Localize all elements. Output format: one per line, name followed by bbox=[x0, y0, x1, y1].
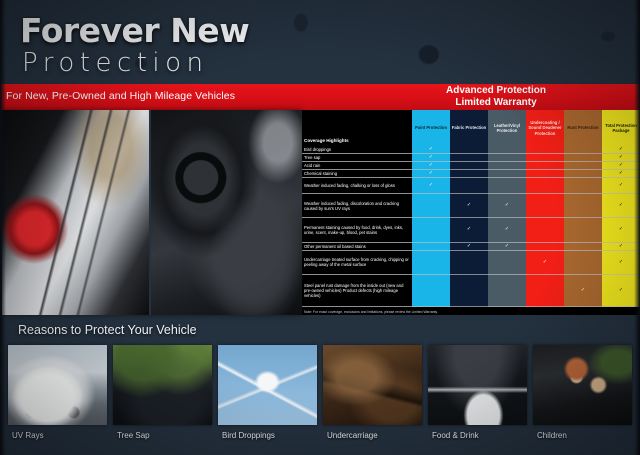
row-label: Acid rain bbox=[302, 162, 412, 170]
table-cell bbox=[564, 178, 602, 194]
table-row: Bird droppings✓✓ bbox=[302, 146, 640, 154]
left-edge-shadow bbox=[0, 0, 6, 455]
table-cell bbox=[526, 194, 564, 218]
reasons-banner: Reasons to Protect Your Vehicle bbox=[0, 318, 640, 342]
reasons-heading: Reasons to Protect Your Vehicle bbox=[18, 323, 197, 337]
table-cell bbox=[412, 194, 450, 218]
table-cell bbox=[450, 146, 488, 154]
table-cell bbox=[450, 178, 488, 194]
table-cell: ✓ bbox=[488, 243, 526, 251]
checkmark-icon: ✓ bbox=[619, 155, 623, 160]
checkmark-icon: ✓ bbox=[619, 203, 623, 208]
row-label: Steel panel rust damage from the inside … bbox=[302, 275, 412, 307]
checkmark-icon: ✓ bbox=[505, 244, 509, 249]
photo-caption-woman-and-child-in-convertible: Children bbox=[537, 431, 567, 440]
checkmark-icon: ✓ bbox=[619, 244, 623, 249]
column-header-label: Rust Protection bbox=[567, 125, 598, 130]
table-cell bbox=[488, 154, 526, 162]
table-cell bbox=[526, 146, 564, 154]
checkmark-icon: ✓ bbox=[429, 171, 433, 176]
table-row: Tree sap✓✓ bbox=[302, 154, 640, 162]
column-header-4: Rust Protection bbox=[564, 110, 602, 146]
table-row: Weather induced fading, discoloration an… bbox=[302, 194, 640, 218]
table-cell bbox=[564, 154, 602, 162]
column-header-0: Paint Protection bbox=[412, 110, 450, 146]
table-row: Acid rain✓✓ bbox=[302, 162, 640, 170]
photo-uv-rays bbox=[8, 345, 107, 425]
table-cell: ✓ bbox=[488, 194, 526, 218]
table-cell bbox=[488, 162, 526, 170]
column-header-3: Undercoating / Sound Deadener Protection bbox=[526, 110, 564, 146]
table-row: Weather induced fading, chalking or loss… bbox=[302, 178, 640, 194]
table-cell: ✓ bbox=[526, 251, 564, 275]
photo-bird-droppings bbox=[218, 345, 317, 425]
table-cell bbox=[526, 170, 564, 178]
coverage-comparison-table: Coverage Highlights Paint ProtectionFabr… bbox=[302, 110, 640, 315]
row-label: Weather induced fading, discoloration an… bbox=[302, 194, 412, 218]
masthead: Forever New Protection bbox=[0, 0, 640, 86]
photo-caption-dark-suv-under-tree: Tree Sap bbox=[117, 431, 150, 440]
table-cell bbox=[450, 251, 488, 275]
table-cell: ✓ bbox=[412, 146, 450, 154]
table-cell: ✓ bbox=[564, 275, 602, 307]
table-corner-header: Coverage Highlights bbox=[302, 110, 412, 146]
coverage-highlights-label: Coverage Highlights bbox=[304, 138, 349, 143]
table-row: Steel panel rust damage from the inside … bbox=[302, 275, 640, 307]
table-header-row: Coverage Highlights Paint ProtectionFabr… bbox=[302, 110, 640, 146]
column-header-1: Fabric Protection bbox=[450, 110, 488, 146]
checkmark-icon: ✓ bbox=[619, 171, 623, 176]
table-cell: ✓ bbox=[412, 170, 450, 178]
table-cell: ✓ bbox=[450, 243, 488, 251]
checkmark-icon: ✓ bbox=[581, 288, 585, 293]
table-cell bbox=[564, 218, 602, 242]
row-label: Permanent staining caused by food, drink… bbox=[302, 218, 412, 242]
column-header-label: Paint Protection bbox=[415, 125, 447, 130]
checkmark-icon: ✓ bbox=[619, 147, 623, 152]
brand-title-line2: Protection bbox=[22, 48, 209, 78]
reasons-caption-bar: UV RaysTree SapBird DroppingsUndercarria… bbox=[0, 425, 640, 455]
table-cell bbox=[526, 162, 564, 170]
table-cell bbox=[412, 251, 450, 275]
checkmark-icon: ✓ bbox=[505, 227, 509, 232]
table-cell bbox=[526, 178, 564, 194]
table-cell bbox=[488, 170, 526, 178]
table-cell bbox=[488, 178, 526, 194]
checkmark-icon: ✓ bbox=[429, 147, 433, 152]
column-header-2: Leather/Vinyl Protection bbox=[488, 110, 526, 146]
table-cell bbox=[488, 275, 526, 307]
photo-food-and-drink bbox=[428, 345, 527, 425]
photo-car-exterior-taillight-and-paint bbox=[2, 110, 149, 315]
table-cell bbox=[526, 275, 564, 307]
photo-caption-white-suv-in-sunlight: UV Rays bbox=[12, 431, 44, 440]
table-row: Undercarriage treated surface from crack… bbox=[302, 251, 640, 275]
photo-car-interior-steering-wheel-and-seats bbox=[151, 110, 302, 315]
banner-tagline: For New, Pre-Owned and High Mileage Vehi… bbox=[6, 90, 235, 102]
row-label: Chemical staining bbox=[302, 170, 412, 178]
checkmark-icon: ✓ bbox=[429, 183, 433, 188]
table-cell bbox=[450, 162, 488, 170]
banner-warranty-title: Advanced Protection Limited Warranty bbox=[396, 85, 596, 109]
table-cell bbox=[450, 170, 488, 178]
reasons-photo-strip bbox=[8, 345, 632, 425]
row-label: Weather induced fading, chalking or loss… bbox=[302, 178, 412, 194]
photo-caption-spilled-drink-cup-in-car: Food & Drink bbox=[432, 431, 479, 440]
table-cell bbox=[412, 243, 450, 251]
photo-undercarriage bbox=[323, 345, 422, 425]
table-body: Bird droppings✓✓Tree sap✓✓Acid rain✓✓Che… bbox=[302, 146, 640, 307]
checkmark-icon: ✓ bbox=[467, 203, 471, 208]
row-label: Undercarriage treated surface from crack… bbox=[302, 251, 412, 275]
table-cell: ✓ bbox=[488, 218, 526, 242]
table-cell: ✓ bbox=[412, 154, 450, 162]
top-photo-strip bbox=[2, 110, 302, 315]
table-cell bbox=[488, 251, 526, 275]
table-cell bbox=[564, 251, 602, 275]
table-cell bbox=[450, 154, 488, 162]
table-cell bbox=[526, 218, 564, 242]
brochure-page: Forever New Protection For New, Pre-Owne… bbox=[0, 0, 640, 455]
table-cell bbox=[450, 275, 488, 307]
row-label: Tree sap bbox=[302, 154, 412, 162]
photo-caption-rusted-vehicle-undercarriage: Undercarriage bbox=[327, 431, 378, 440]
table-cell: ✓ bbox=[412, 162, 450, 170]
column-header-label: Undercoating / Sound Deadener Protection bbox=[527, 120, 563, 136]
table-cell bbox=[526, 243, 564, 251]
red-banner: For New, Pre-Owned and High Mileage Vehi… bbox=[0, 84, 640, 110]
table-cell bbox=[564, 170, 602, 178]
checkmark-icon: ✓ bbox=[543, 260, 547, 265]
table-footnote: Note: For exact coverage, exclusions and… bbox=[302, 309, 640, 315]
table-cell bbox=[412, 218, 450, 242]
checkmark-icon: ✓ bbox=[429, 155, 433, 160]
checkmark-icon: ✓ bbox=[619, 163, 623, 168]
row-label: Bird droppings bbox=[302, 146, 412, 154]
table-cell bbox=[488, 146, 526, 154]
right-edge-shadow bbox=[634, 0, 640, 455]
table-row: Other permanent oil based stains✓✓✓ bbox=[302, 243, 640, 251]
table-cell bbox=[526, 154, 564, 162]
checkmark-icon: ✓ bbox=[467, 227, 471, 232]
checkmark-icon: ✓ bbox=[505, 203, 509, 208]
checkmark-icon: ✓ bbox=[467, 244, 471, 249]
table-row: Chemical staining✓✓ bbox=[302, 170, 640, 178]
table-cell bbox=[564, 243, 602, 251]
column-header-label: Fabric Protection bbox=[452, 125, 486, 130]
table-row: Permanent staining caused by food, drink… bbox=[302, 218, 640, 242]
checkmark-icon: ✓ bbox=[619, 288, 623, 293]
banner-warranty-line2: Limited Warranty bbox=[396, 97, 596, 109]
checkmark-icon: ✓ bbox=[619, 183, 623, 188]
table-cell: ✓ bbox=[412, 178, 450, 194]
row-label: Other permanent oil based stains bbox=[302, 243, 412, 251]
table-cell bbox=[564, 194, 602, 218]
banner-warranty-line1: Advanced Protection bbox=[396, 85, 596, 97]
photo-caption-seagull-flying-in-blue-sky: Bird Droppings bbox=[222, 431, 275, 440]
table-cell: ✓ bbox=[450, 194, 488, 218]
checkmark-icon: ✓ bbox=[429, 163, 433, 168]
table-cell: ✓ bbox=[450, 218, 488, 242]
column-header-label: Leather/Vinyl Protection bbox=[489, 123, 525, 133]
photo-tree-sap bbox=[113, 345, 212, 425]
brand-title-line1: Forever New bbox=[20, 11, 249, 50]
table-cell bbox=[564, 162, 602, 170]
table-cell bbox=[564, 146, 602, 154]
checkmark-icon: ✓ bbox=[619, 227, 623, 232]
checkmark-icon: ✓ bbox=[619, 260, 623, 265]
table-cell bbox=[412, 275, 450, 307]
photo-children bbox=[533, 345, 632, 425]
